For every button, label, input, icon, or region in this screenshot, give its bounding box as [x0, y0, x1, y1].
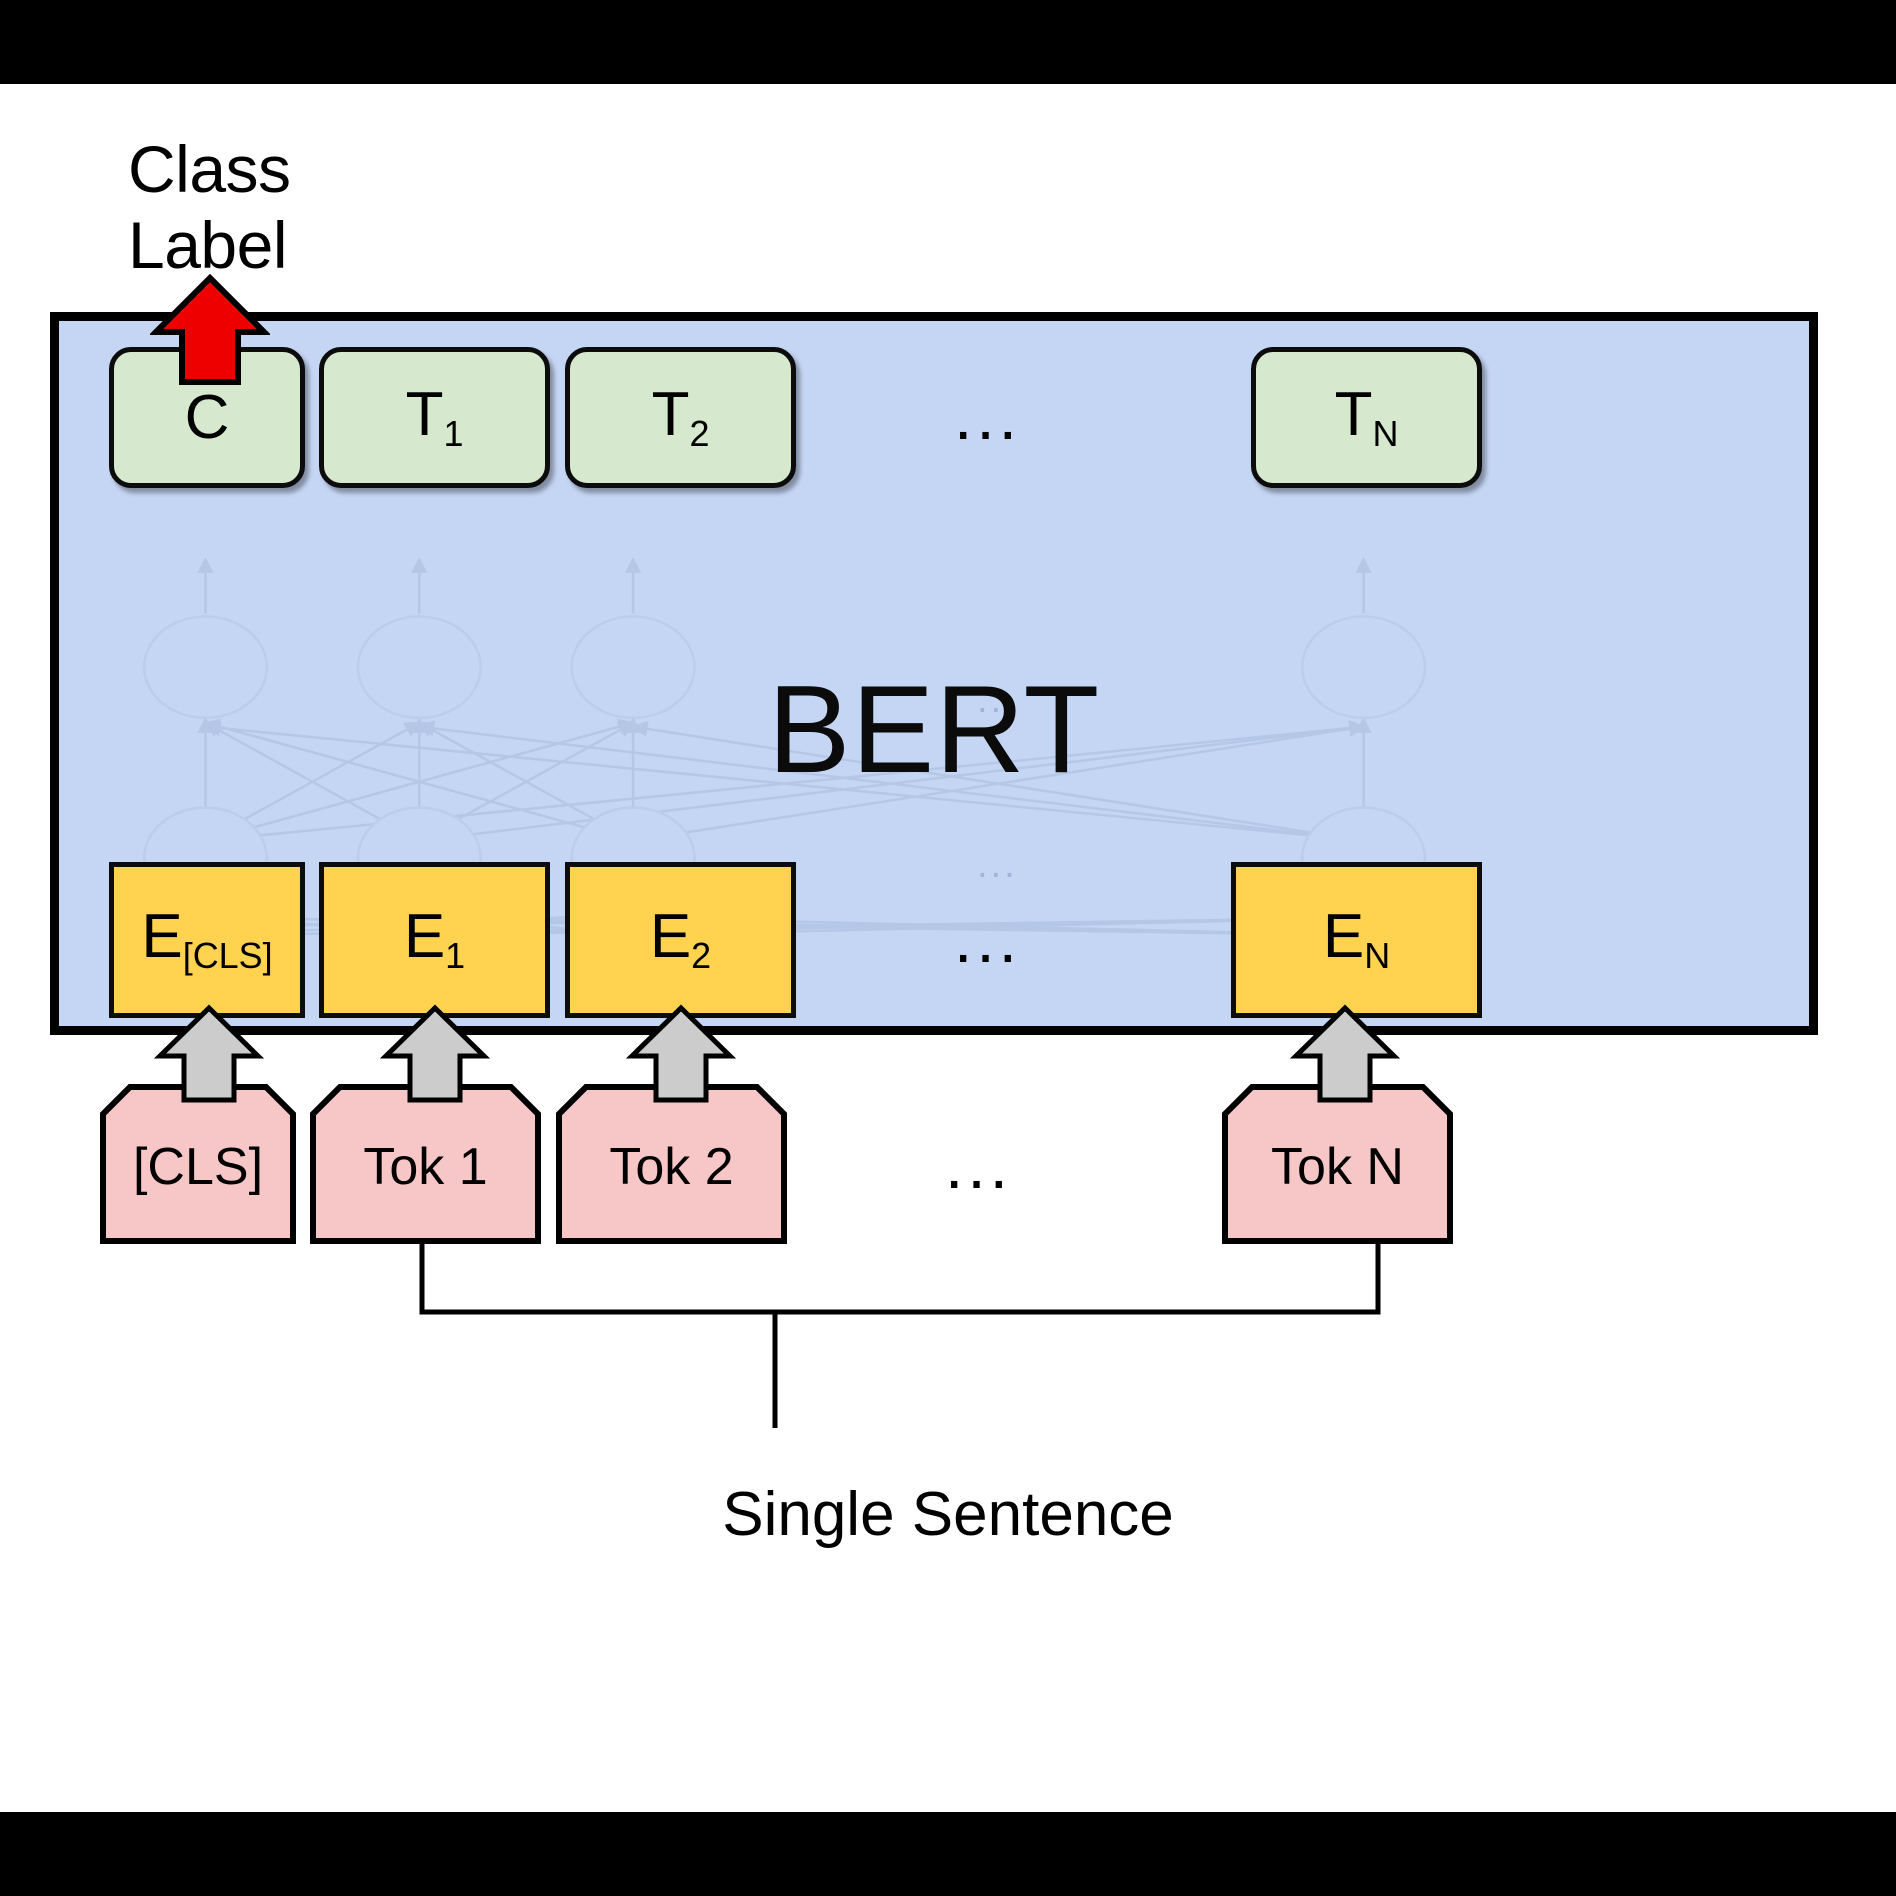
token-1-label: Tok 1 — [310, 1141, 541, 1193]
token-n[interactable]: Tok N — [1222, 1084, 1453, 1244]
embedding-cls-label: E[CLS] — [141, 906, 272, 974]
embedding-row-ellipsis: ... — [954, 906, 1021, 972]
network-ellipsis-upper: ... — [977, 681, 1018, 719]
gray-up-arrow-tokn-icon — [1290, 1004, 1400, 1104]
token-cls[interactable]: [CLS] — [100, 1084, 296, 1244]
gray-up-arrow-tok2-icon — [626, 1004, 736, 1104]
network-ellipsis-lower: ... — [977, 846, 1018, 884]
embedding-cls[interactable]: E[CLS] — [109, 862, 305, 1018]
token-row-ellipsis: ... — [945, 1132, 1012, 1198]
gray-up-arrow-tok1-icon — [380, 1004, 490, 1104]
output-row-ellipsis: ... — [954, 383, 1021, 449]
letterbox-bottom — [0, 1812, 1896, 1896]
output-tn[interactable]: TN — [1251, 347, 1482, 488]
embedding-n-label: EN — [1323, 906, 1390, 974]
single-sentence-caption: Single Sentence — [0, 1479, 1896, 1550]
red-up-arrow-icon — [150, 274, 270, 386]
token-2[interactable]: Tok 2 — [556, 1084, 787, 1244]
output-t2[interactable]: T2 — [565, 347, 796, 488]
bert-model-box: ... ... BERT C T1 T2 TN ... E[CLS] — [50, 312, 1818, 1035]
sentence-bracket — [400, 1242, 1400, 1472]
output-t2-label: T2 — [652, 384, 710, 452]
token-2-label: Tok 2 — [556, 1141, 787, 1193]
white-canvas: Class Label — [0, 84, 1896, 1812]
embedding-n[interactable]: EN — [1231, 862, 1482, 1018]
embedding-1[interactable]: E1 — [319, 862, 550, 1018]
output-tn-label: TN — [1335, 384, 1399, 452]
embedding-1-label: E1 — [404, 906, 465, 974]
output-t1-label: T1 — [406, 384, 464, 452]
output-t1[interactable]: T1 — [319, 347, 550, 488]
token-1[interactable]: Tok 1 — [310, 1084, 541, 1244]
embedding-2[interactable]: E2 — [565, 862, 796, 1018]
token-n-label: Tok N — [1222, 1141, 1453, 1193]
embedding-2-label: E2 — [650, 906, 711, 974]
gray-up-arrow-cls-icon — [154, 1004, 264, 1104]
diagram-canvas: Class Label — [0, 0, 1896, 1896]
token-cls-label: [CLS] — [100, 1141, 296, 1193]
output-c-label: C — [185, 387, 230, 449]
letterbox-top — [0, 0, 1896, 84]
class-label-text: Class Label — [128, 132, 291, 284]
